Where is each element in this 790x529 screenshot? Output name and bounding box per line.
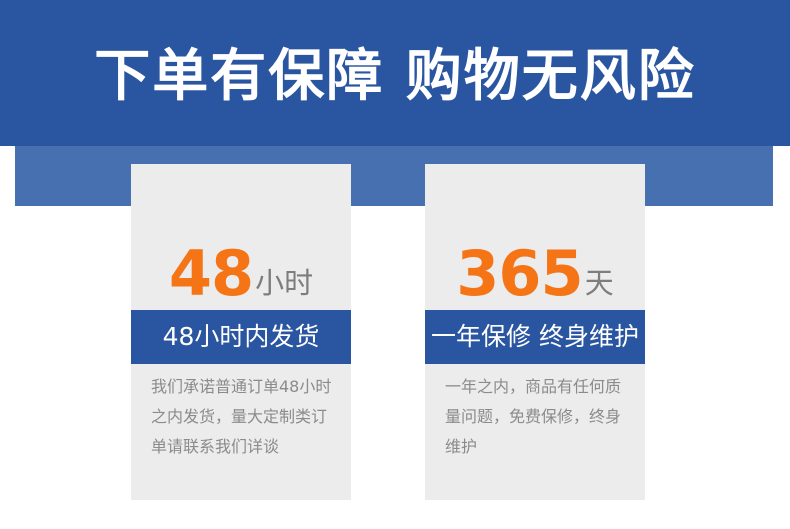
secondary-band [15,146,773,206]
guarantee-card-warranty: 365 天 一年保修 终身维护 一年之内，商品有任何质量问题，免费保修，终身维护 [425,164,645,500]
card-body-text: 一年之内，商品有任何质量问题，免费保修，终身维护 [445,372,631,462]
guarantee-card-shipping: 48 小时 48小时内发货 我们承诺普通订单48小时之内发货，量大定制类订单请联… [131,164,351,500]
figure-number: 365 [456,242,582,306]
figure-number: 48 [169,242,253,306]
card-figure: 48 小时 [131,164,351,310]
figure-unit: 天 [585,265,614,301]
card-figure: 365 天 [425,164,645,310]
card-label-badge: 48小时内发货 [131,310,351,364]
card-body-text: 我们承诺普通订单48小时之内发货，量大定制类订单请联系我们详谈 [151,372,337,462]
figure-unit: 小时 [255,265,313,301]
card-label-badge: 一年保修 终身维护 [425,310,645,364]
promo-banner: 下单有保障 购物无风险 48 小时 48小时内发货 我们承诺普通订单48小时之内… [0,0,790,529]
page-title: 下单有保障 购物无风险 [0,44,790,110]
